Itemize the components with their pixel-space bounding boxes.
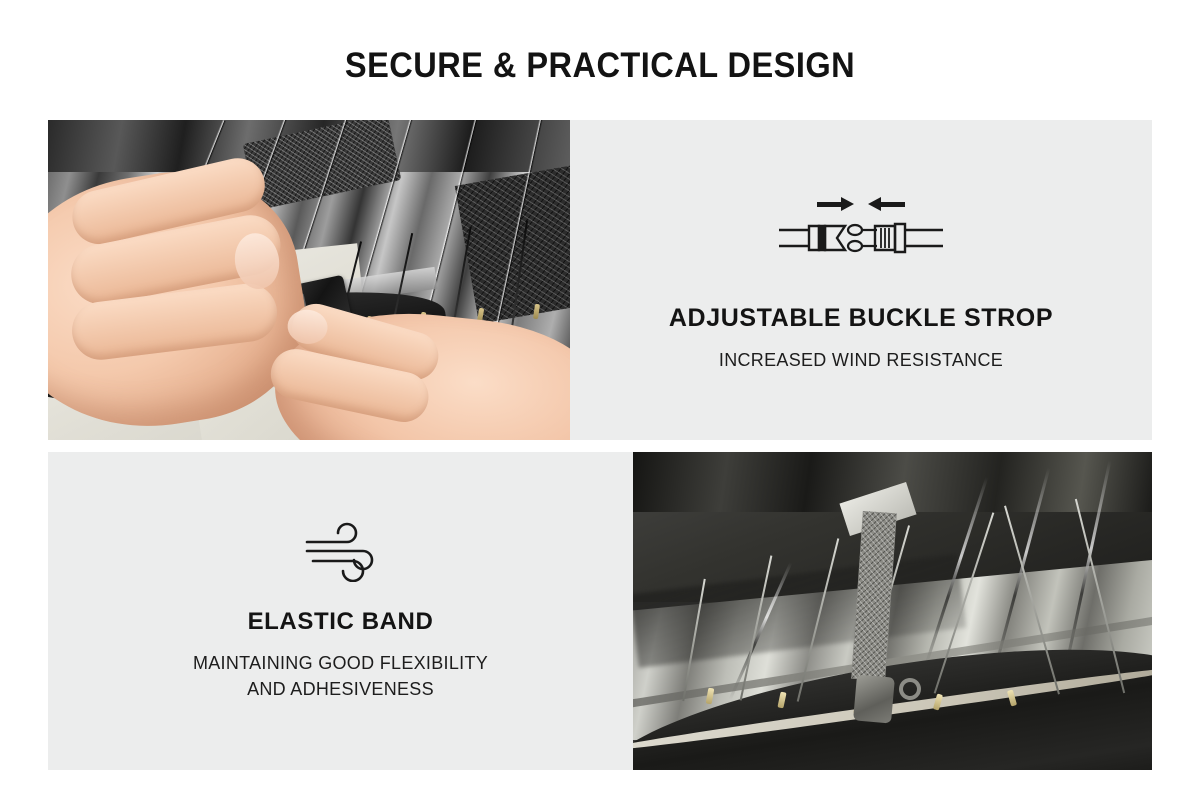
hands-fastening-buckle-photo bbox=[48, 120, 570, 440]
feature-row-buckle: ADJUSTABLE BUCKLE STROP INCREASED WIND R… bbox=[48, 120, 1152, 440]
elastic-subtitle: MAINTAINING GOOD FLEXIBILITY AND ADHESIV… bbox=[193, 650, 488, 702]
page-title: SECURE & PRACTICAL DESIGN bbox=[42, 46, 1158, 86]
wind-flow-icon bbox=[303, 520, 379, 582]
feature-row-elastic: ELASTIC BAND MAINTAINING GOOD FLEXIBILIT… bbox=[48, 452, 1152, 770]
wheel-elastic-strap-photo bbox=[633, 452, 1152, 770]
buckle-heading: ADJUSTABLE BUCKLE STROP bbox=[669, 304, 1053, 333]
elastic-subtitle-line2: AND ADHESIVENESS bbox=[247, 679, 434, 699]
buckle-subtitle: INCREASED WIND RESISTANCE bbox=[719, 347, 1003, 373]
elastic-subtitle-line1: MAINTAINING GOOD FLEXIBILITY bbox=[193, 653, 488, 673]
elastic-heading: ELASTIC BAND bbox=[248, 608, 434, 636]
infographic-page: SECURE & PRACTICAL DESIGN bbox=[0, 0, 1200, 800]
strap-buckle bbox=[853, 674, 895, 723]
buckle-text-cell: ADJUSTABLE BUCKLE STROP INCREASED WIND R… bbox=[570, 120, 1152, 440]
elastic-text-cell: ELASTIC BAND MAINTAINING GOOD FLEXIBILIT… bbox=[48, 452, 633, 770]
buckle-strap-icon bbox=[771, 186, 951, 278]
